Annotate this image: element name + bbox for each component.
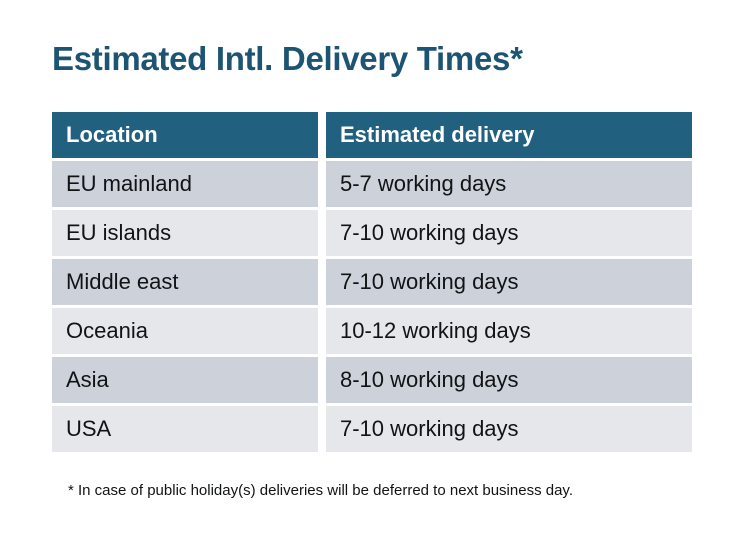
page-title: Estimated Intl. Delivery Times* bbox=[52, 38, 523, 80]
delivery-times-panel: Estimated Intl. Delivery Times* Location… bbox=[0, 0, 745, 536]
column-header-location: Location bbox=[52, 112, 318, 158]
delivery-times-table: Location Estimated delivery EU mainland … bbox=[52, 112, 692, 452]
cell-location: USA bbox=[52, 406, 318, 452]
table-row: Oceania 10-12 working days bbox=[52, 308, 692, 354]
cell-location: Middle east bbox=[52, 259, 318, 305]
table-header-row: Location Estimated delivery bbox=[52, 112, 692, 158]
cell-delivery: 7-10 working days bbox=[326, 210, 692, 256]
cell-delivery: 7-10 working days bbox=[326, 259, 692, 305]
table-row: Middle east 7-10 working days bbox=[52, 259, 692, 305]
cell-delivery: 7-10 working days bbox=[326, 406, 692, 452]
table-row: Asia 8-10 working days bbox=[52, 357, 692, 403]
column-header-estimated-delivery: Estimated delivery bbox=[326, 112, 692, 158]
cell-delivery: 10-12 working days bbox=[326, 308, 692, 354]
cell-location: EU mainland bbox=[52, 161, 318, 207]
table-row: EU islands 7-10 working days bbox=[52, 210, 692, 256]
table-row: USA 7-10 working days bbox=[52, 406, 692, 452]
cell-delivery: 5-7 working days bbox=[326, 161, 692, 207]
table-row: EU mainland 5-7 working days bbox=[52, 161, 692, 207]
footnote-text: * In case of public holiday(s) deliverie… bbox=[68, 481, 573, 501]
cell-location: Asia bbox=[52, 357, 318, 403]
cell-delivery: 8-10 working days bbox=[326, 357, 692, 403]
cell-location: EU islands bbox=[52, 210, 318, 256]
cell-location: Oceania bbox=[52, 308, 318, 354]
